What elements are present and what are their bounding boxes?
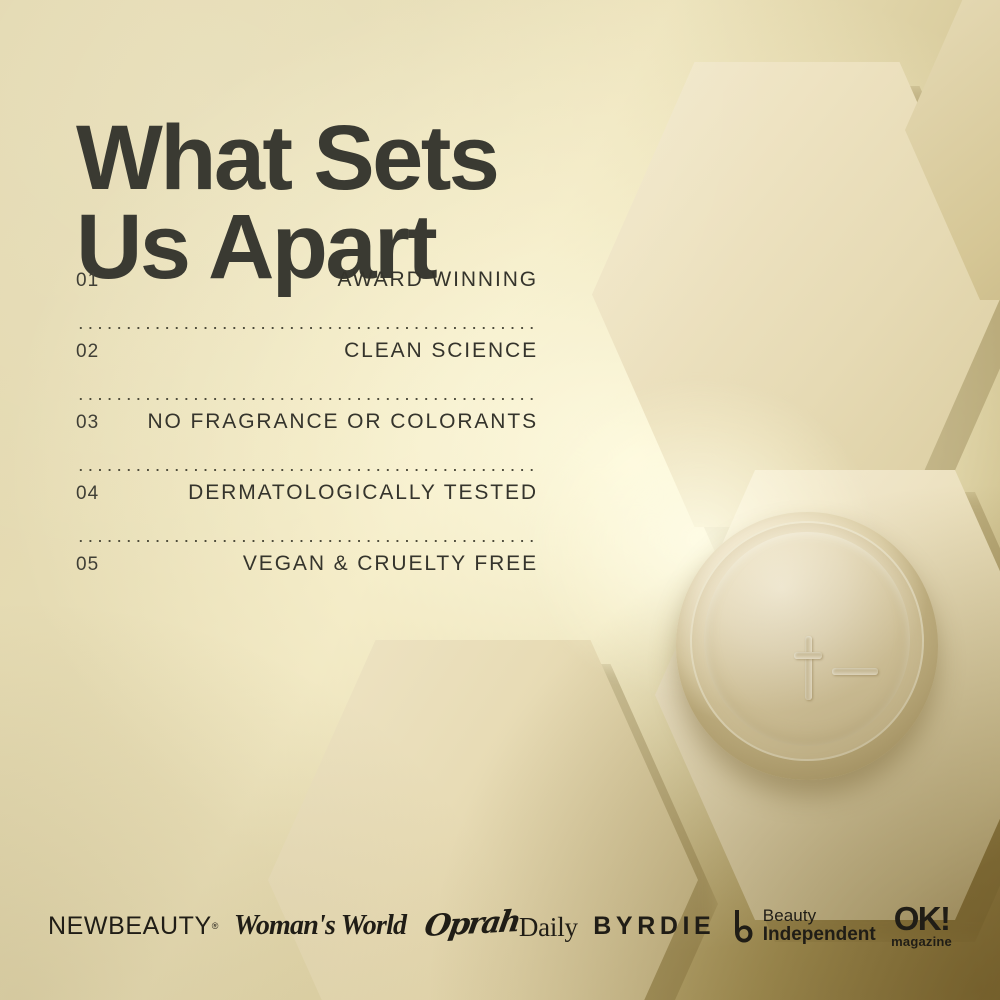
feature-number: 05 <box>76 554 99 576</box>
ok-magazine-subtext: magazine <box>891 936 952 948</box>
feature-separator <box>76 469 538 471</box>
feature-number: 04 <box>76 483 99 505</box>
press-logo-byrdie: BYRDIE <box>593 912 715 941</box>
feature-label: AWARD WINNING <box>338 268 538 292</box>
feature-label: NO FRAGRANCE OR COLORANTS <box>147 410 538 434</box>
list-item: 01 AWARD WINNING <box>76 268 538 316</box>
feature-separator <box>76 398 538 400</box>
beauty-independent-line2: Independent <box>763 925 876 945</box>
press-logo-newbeauty: NEWBEAUTY® <box>48 912 218 941</box>
beauty-independent-wordmark: Beauty Independent <box>763 907 876 945</box>
feature-label: DERMATOLOGICALLY TESTED <box>188 481 538 505</box>
beauty-independent-line1: Beauty <box>763 907 876 925</box>
press-logo-oprah-daily: OprahDaily <box>422 909 578 944</box>
page-title: What Sets Us Apart <box>76 114 596 292</box>
ok-wordmark: OK! <box>894 904 950 934</box>
newbeauty-wordmark: NEWBEAUTY <box>48 912 212 941</box>
feature-number: 03 <box>76 412 99 434</box>
list-item: 02 CLEAN SCIENCE <box>76 339 538 387</box>
feature-number: 01 <box>76 270 99 292</box>
feature-separator <box>76 327 538 329</box>
list-item: 03 NO FRAGRANCE OR COLORANTS <box>76 410 538 458</box>
feature-number: 02 <box>76 341 99 363</box>
press-logo-bar: NEWBEAUTY® Woman's World OprahDaily BYRD… <box>0 893 1000 959</box>
feature-label: VEGAN & CRUELTY FREE <box>243 552 538 576</box>
press-logo-ok-magazine: OK! magazine <box>891 904 952 947</box>
womans-world-wordmark: Woman's World <box>234 910 406 942</box>
oprah-signature: Oprah <box>422 904 522 944</box>
feature-separator <box>76 540 538 542</box>
beauty-independent-b-icon <box>731 908 755 944</box>
feature-label: CLEAN SCIENCE <box>344 339 538 363</box>
press-logo-beauty-independent: Beauty Independent <box>731 907 876 945</box>
newbeauty-trademark: ® <box>212 921 219 931</box>
daily-wordmark: Daily <box>519 912 578 943</box>
list-item: 04 DERMATOLOGICALLY TESTED <box>76 481 538 529</box>
press-logo-womans-world: Woman's World <box>234 910 406 942</box>
byrdie-wordmark: BYRDIE <box>593 912 715 941</box>
feature-list: 01 AWARD WINNING 02 CLEAN SCIENCE 03 NO … <box>76 268 538 600</box>
promo-graphic: What Sets Us Apart 01 AWARD WINNING 02 C… <box>0 0 1000 1000</box>
list-item: 05 VEGAN & CRUELTY FREE <box>76 552 538 600</box>
